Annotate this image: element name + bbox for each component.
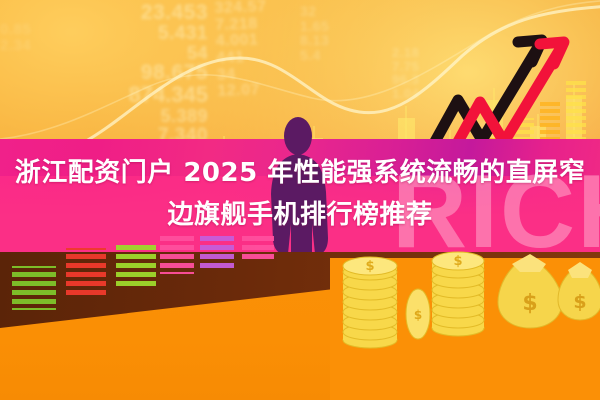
- svg-text:$: $: [573, 291, 586, 313]
- money-bag-small: $: [558, 262, 600, 320]
- coin-single: $: [406, 289, 430, 339]
- svg-text:$: $: [522, 291, 537, 316]
- coin-stack-left: $: [343, 257, 397, 348]
- svg-text:$: $: [414, 308, 422, 322]
- title-line-1: 浙江配资门户 2025 年性能强系统流畅的直屏窄: [0, 152, 600, 194]
- svg-text:$: $: [453, 254, 462, 269]
- money-bag-large: $: [498, 254, 562, 328]
- title-line-2: 边旗舰手机排行榜推荐: [0, 194, 600, 236]
- svg-text:$: $: [365, 259, 374, 274]
- coin-stack-right: $: [432, 252, 484, 336]
- page-title: 浙江配资门户 2025 年性能强系统流畅的直屏窄 边旗舰手机排行榜推荐: [0, 152, 600, 236]
- banner-image: 23.453 5.431 54 98.675 874.345 5.389 7.3…: [0, 0, 600, 400]
- gold-coins-and-money-bags: $ $ $ $: [330, 248, 600, 358]
